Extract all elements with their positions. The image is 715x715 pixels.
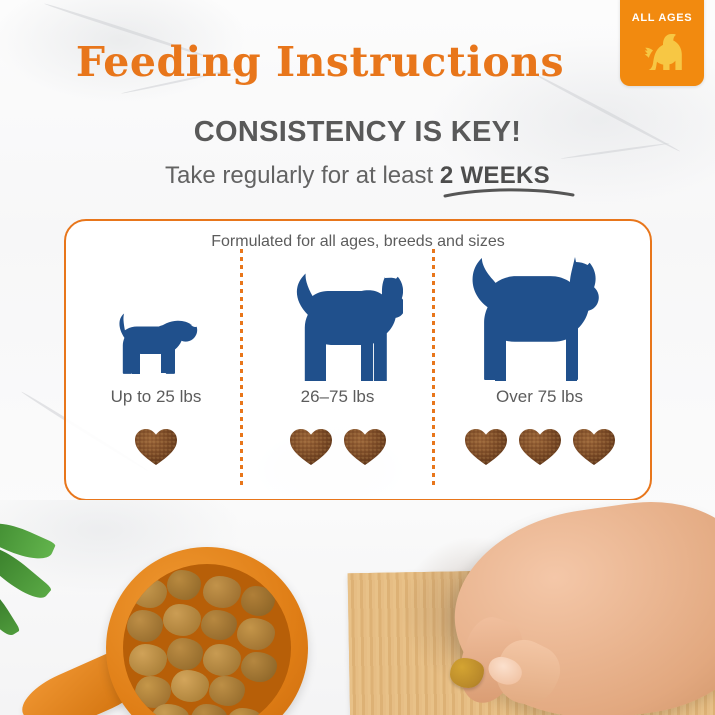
large-dog-icon [467,257,613,381]
tagline: Take regularly for at least 2 WEEKS [0,162,715,190]
feeding-chart-card: Formulated for all ages, breeds and size… [64,219,652,501]
heart-treat-icon [133,425,179,467]
page-title: Feeding Instructions [0,38,640,86]
dog-illustration [72,257,240,383]
size-label: Over 75 lbs [435,387,644,407]
card-subheading: Formulated for all ages, breeds and size… [66,233,650,251]
tagline-prefix: Take regularly for at least [165,162,440,189]
heart-treat-icon [342,425,388,467]
sitting-dog-icon [637,28,687,76]
all-ages-badge-label: ALL AGES [620,12,704,24]
heart-treat-icon [517,425,563,467]
heart-treat-icon [463,425,509,467]
treat-portion-medium [243,415,432,477]
dog-illustration [435,257,644,383]
heart-treat-icon [571,425,617,467]
feeding-column-large: Over 75 lbs [435,257,644,493]
tagline-duration: 2 WEEKS [440,162,550,189]
feeding-column-medium: 26–75 lbs [243,257,432,493]
subtitle: CONSISTENCY IS KEY! [0,116,715,149]
infographic-root: Feeding Instructions ALL AGES CONSISTENC… [0,0,715,715]
medium-dog-icon [273,273,403,381]
size-label: Up to 25 lbs [72,387,240,407]
underline-swoosh-icon [443,186,575,198]
treat-portion-small [72,415,240,477]
size-label: 26–75 lbs [243,387,432,407]
measuring-cup-interior [123,564,291,715]
treat-portion-large [435,415,644,477]
all-ages-badge: ALL AGES [620,0,704,86]
dog-illustration [243,257,432,383]
feeding-column-small: Up to 25 lbs [72,257,240,493]
small-dog-icon [104,309,208,381]
heart-treat-icon [288,425,334,467]
lifestyle-photo [0,500,715,715]
